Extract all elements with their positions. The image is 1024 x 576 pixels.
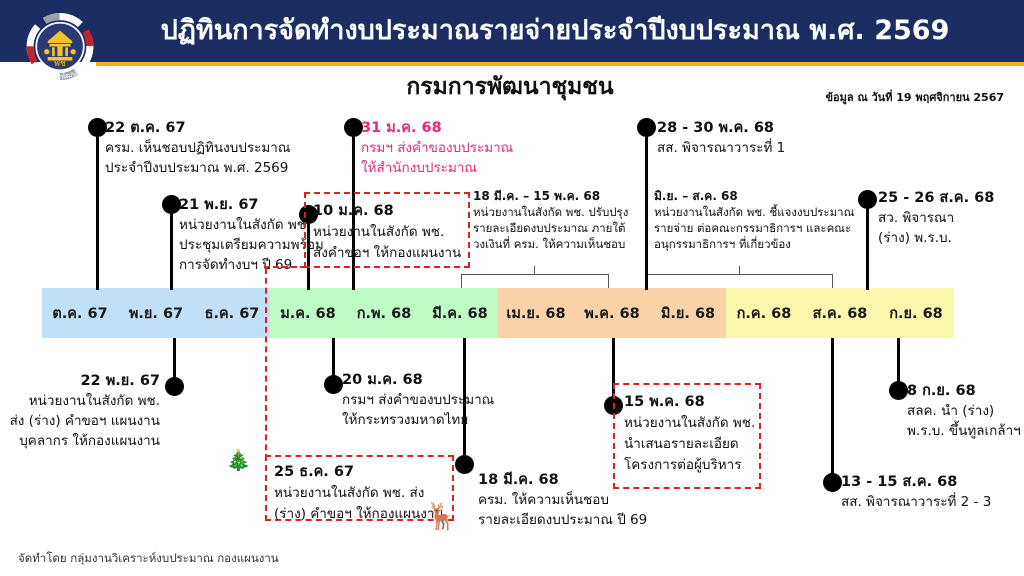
dot-13-15-aug-68 — [823, 473, 842, 492]
callout-date: 20 ม.ค. 68 — [342, 370, 494, 390]
stem-20-jan-68 — [332, 338, 335, 380]
callout-line-2: ให้กระทรวงมหาดไทย — [342, 410, 494, 430]
red-connector-jan-dec — [265, 268, 267, 460]
as-of-date: ข้อมูล ณ วันที่ 19 พฤศจิกายน 2567 — [826, 88, 1004, 106]
reindeer-decor: 🦌 — [425, 504, 457, 530]
range-line-2: รายละเอียดงบประมาณ ภายใต้ — [473, 220, 628, 236]
callout-line-2: พ.ร.บ. ขึ้นทูลเกล้าฯ — [907, 421, 1021, 441]
callout-line-3: บุคลากร ให้กองแผนงาน — [0, 431, 160, 451]
timeline-month-10[interactable]: ก.ค. 68 — [726, 288, 802, 338]
box-line-1: หน่วยงานในสังกัด พช. — [624, 413, 755, 434]
callout-date: 21 พ.ย. 67 — [179, 195, 324, 215]
callout-line-3: การจัดทำงบฯ ปี 69 — [179, 255, 324, 275]
box-line-2: ส่งคำขอฯ ให้กองแผนงาน — [313, 243, 461, 264]
callout-line-2: ประชุมเตรียมความพร้อม — [179, 235, 324, 255]
dot-25-26-aug-68 — [858, 190, 877, 209]
box-line-1: หน่วยงานในสังกัด พช. — [313, 222, 461, 243]
timeline-month-3[interactable]: ธ.ค. 67 — [194, 288, 270, 338]
timeline-month-4[interactable]: ม.ค. 68 — [270, 288, 346, 338]
callout-line-1: สลค. นำ (ร่าง) — [907, 401, 1021, 421]
dot-28-30-may-68 — [637, 118, 656, 137]
highlight-text-15-may-68: 15 พ.ค. 68 หน่วยงานในสังกัด พช. นำเสนอรา… — [624, 392, 755, 476]
stem-22-nov-67 — [173, 338, 176, 382]
callout-line-2: ประจำปีงบประมาณ พ.ศ. 2569 — [105, 158, 290, 178]
callout-line-2: ส่ง (ร่าง) คำขอฯ แผนงาน — [0, 411, 160, 431]
timeline-month-1[interactable]: ต.ค. 67 — [42, 288, 118, 338]
callout-18-mar-68: 18 มี.ค. 68 ครม. ให้ความเห็นชอบ รายละเอี… — [478, 470, 647, 530]
callout-date: 18 มี.ค. 68 — [478, 470, 647, 490]
timeline-month-2[interactable]: พ.ย. 67 — [118, 288, 194, 338]
box-line-2: (ร่าง) คำขอฯ ให้กองแผนงาน — [274, 504, 444, 525]
callout-line-1: สส. พิจารณาวาระที่ 2 - 3 — [841, 492, 991, 512]
timeline-month-8[interactable]: พ.ค. 68 — [574, 288, 650, 338]
page-subtitle: กรมการพัฒนาชุมชน — [180, 72, 840, 102]
bracket-jun-aug — [647, 274, 833, 288]
highlight-text-25-dec-67: 25 ธ.ค. 67 หน่วยงานในสังกัด พช. ส่ง (ร่า… — [274, 462, 444, 525]
dot-20-jan-68 — [324, 375, 343, 394]
box-date: 15 พ.ค. 68 — [624, 392, 755, 413]
callout-line-2: ให้สำนักงบประมาณ — [361, 158, 513, 178]
callout-date: 28 - 30 พ.ค. 68 — [657, 118, 785, 138]
callout-21-nov-67: 21 พ.ย. 67 หน่วยงานในสังกัด พช. ประชุมเต… — [179, 195, 324, 275]
timeline-month-11[interactable]: ส.ค. 68 — [802, 288, 878, 338]
callout-line-1: สว. พิจารณา — [878, 208, 994, 228]
box-line-2: นำเสนอรายละเอียด — [624, 434, 755, 455]
callout-line-1: หน่วยงานในสังกัด พช. — [179, 215, 324, 235]
callout-line-1: กรมฯ ส่งคำของบประมาณ — [342, 390, 494, 410]
cdd-department-logo: พช กรมการพัฒนาชุมชน — [16, 6, 104, 94]
callout-date: 8 ก.ย. 68 — [907, 381, 1021, 401]
stem-21-nov-67 — [170, 205, 173, 290]
callout-line-1: ครม. ให้ความเห็นชอบ — [478, 490, 647, 510]
box-date: 25 ธ.ค. 67 — [274, 462, 444, 483]
range-line-1: หน่วยงานในสังกัด พช. ปรับปรุง — [473, 204, 628, 220]
callout-22-oct-67: 22 ต.ค. 67 ครม. เห็นชอบปฏิทินงบประมาณ ปร… — [105, 118, 290, 178]
range-line-1: หน่วยงานในสังกัด พช. ชี้แจงงบประมาณ — [654, 204, 854, 220]
range-date: 18 มี.ค. – 15 พ.ค. 68 — [473, 188, 628, 204]
svg-text:พช: พช — [54, 59, 66, 69]
callout-22-nov-67: 22 พ.ย. 67 หน่วยงานในสังกัด พช. ส่ง (ร่า… — [0, 371, 160, 451]
callout-31-jan-68: 31 ม.ค. 68 กรมฯ ส่งคำของบประมาณ ให้สำนัก… — [361, 118, 513, 178]
callout-date: 22 พ.ย. 67 — [0, 371, 160, 391]
dot-18-mar-68 — [455, 455, 474, 474]
highlight-text-10-jan-68: 10 ม.ค. 68 หน่วยงานในสังกัด พช. ส่งคำขอฯ… — [313, 201, 461, 264]
callout-25-26-aug-68: 25 - 26 ส.ค. 68 สว. พิจารณา (ร่าง) พ.ร.บ… — [878, 188, 994, 248]
stem-8-sep-68 — [897, 338, 900, 386]
range-date: มิ.ย. – ส.ค. 68 — [654, 188, 854, 204]
callout-line-1: กรมฯ ส่งคำของบประมาณ — [361, 138, 513, 158]
timeline-month-6[interactable]: มี.ค. 68 — [422, 288, 498, 338]
footer-credit: จัดทำโดย กลุ่มงานวิเคราะห์งบประมาณ กองแผ… — [18, 550, 279, 568]
callout-line-1: หน่วยงานในสังกัด พช. — [0, 391, 160, 411]
timeline-month-7[interactable]: เม.ย. 68 — [498, 288, 574, 338]
callout-line-2: รายละเอียดงบประมาณ ปี 69 — [478, 510, 647, 530]
timeline-bar: ต.ค. 67พ.ย. 67ธ.ค. 67ม.ค. 68ก.พ. 68มี.ค.… — [42, 288, 954, 338]
timeline-month-12[interactable]: ก.ย. 68 — [878, 288, 954, 338]
callout-date: 13 - 15 ส.ค. 68 — [841, 472, 991, 492]
stem-13-15-aug-68 — [831, 338, 834, 478]
range-line-3: อนุกรรมาธิการฯ ที่เกี่ยวข้อง — [654, 236, 854, 252]
stem-22-oct-67 — [96, 128, 99, 290]
dot-22-nov-67 — [165, 377, 184, 396]
callout-line-1: สส. พิจารณาวาระที่ 1 — [657, 138, 785, 158]
callout-20-jan-68: 20 ม.ค. 68 กรมฯ ส่งคำของบประมาณ ให้กระทร… — [342, 370, 494, 430]
range-18mar-15may: 18 มี.ค. – 15 พ.ค. 68 หน่วยงานในสังกัด พ… — [473, 188, 628, 252]
timeline-month-9[interactable]: มิ.ย. 68 — [650, 288, 726, 338]
callout-13-15-aug-68: 13 - 15 ส.ค. 68 สส. พิจารณาวาระที่ 2 - 3 — [841, 472, 991, 512]
budget-calendar-infographic: พช กรมการพัฒนาชุมชน ปฏิทินการจัดทำงบประม… — [0, 0, 1024, 576]
stem-28-30-may-68 — [645, 128, 648, 290]
dot-8-sep-68 — [889, 381, 908, 400]
callout-8-sep-68: 8 ก.ย. 68 สลค. นำ (ร่าง) พ.ร.บ. ขึ้นทูลเ… — [907, 381, 1021, 441]
callout-line-2: (ร่าง) พ.ร.บ. — [878, 228, 994, 248]
header-accent-stripe — [96, 62, 1024, 66]
timeline-month-5[interactable]: ก.พ. 68 — [346, 288, 422, 338]
range-line-2: รายจ่าย ต่อคณะกรรมาธิการฯ และคณะ — [654, 220, 854, 236]
bracket-tick-jun-aug — [739, 266, 740, 274]
callout-28-30-may-68: 28 - 30 พ.ค. 68 สส. พิจารณาวาระที่ 1 — [657, 118, 785, 158]
stem-25-26-aug-68 — [866, 200, 869, 290]
red-connector-elbow — [264, 266, 306, 270]
bracket-mar-may — [461, 274, 609, 288]
range-line-3: วงเงินที่ ครม. ให้ความเห็นชอบ — [473, 236, 628, 252]
callout-date: 25 - 26 ส.ค. 68 — [878, 188, 994, 208]
range-jun-aug: มิ.ย. – ส.ค. 68 หน่วยงานในสังกัด พช. ชี้… — [654, 188, 854, 252]
bracket-tick-mar-may — [534, 266, 535, 274]
callout-line-1: ครม. เห็นชอบปฏิทินงบประมาณ — [105, 138, 290, 158]
callout-date: 31 ม.ค. 68 — [361, 118, 513, 138]
box-date: 10 ม.ค. 68 — [313, 201, 461, 222]
page-title: ปฏิทินการจัดทำงบประมาณรายจ่ายประจำปีงบปร… — [110, 12, 1000, 50]
box-line-1: หน่วยงานในสังกัด พช. ส่ง — [274, 483, 444, 504]
wreath-decor: 🎄 — [226, 450, 251, 470]
callout-date: 22 ต.ค. 67 — [105, 118, 290, 138]
